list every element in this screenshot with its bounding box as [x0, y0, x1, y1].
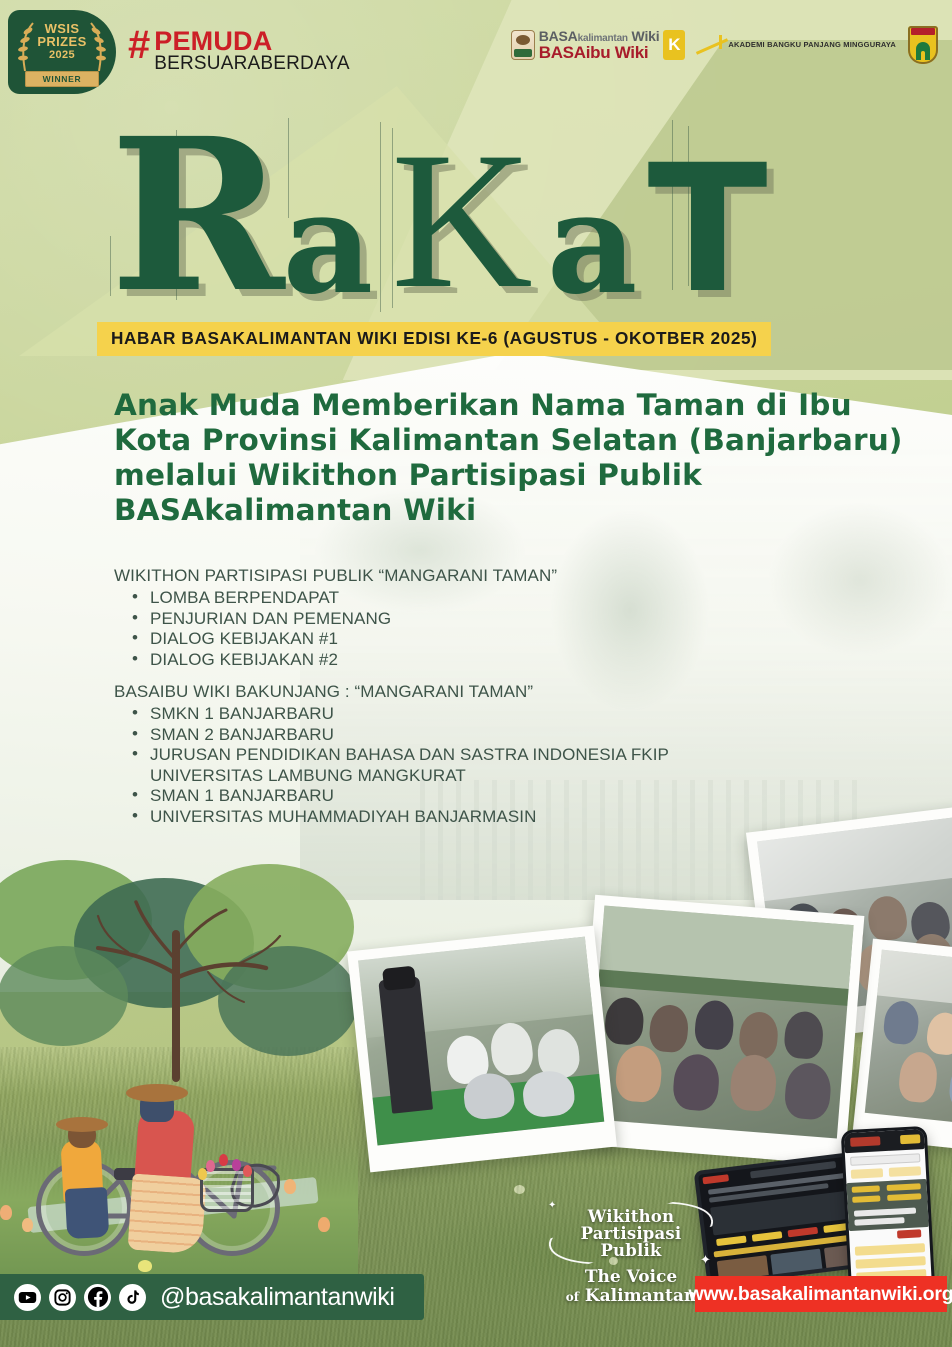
basa-mask-icon [511, 30, 535, 60]
basa-k-icon: K [663, 30, 685, 60]
banjarbaru-city-emblem [908, 26, 938, 64]
akademi-label: AKADEMI BANGKU PANJANG MINGGURAYA [728, 41, 896, 49]
voice-of-kalimantan-logo: The Voice of Kalimantan [556, 1268, 706, 1307]
voice-line-1: The Voice [556, 1268, 706, 1287]
rider-adult-hat [126, 1084, 188, 1102]
watercolor-bicycle-illustration [0, 860, 358, 1290]
section-basaibu-title: BASAIBU WIKI BAKUNJANG : “MANGARANI TAMA… [114, 682, 669, 702]
list-item-line-1: JURUSAN PENDIDIKAN BAHASA DAN SASTRA IND… [150, 745, 669, 764]
list-item: UNIVERSITAS MUHAMMADIYAH BANJARMASIN [132, 807, 669, 828]
pemuda-word: PEMUDA [154, 28, 350, 54]
basaibu-wiki-word: BASAibu Wiki [539, 44, 660, 61]
wiki-word: Wiki [632, 28, 660, 44]
title-letter-T: TT [648, 156, 764, 304]
list-item: DIALOG KEBIJAKAN #2 [132, 650, 557, 671]
title-letter-a2: aa [547, 186, 638, 304]
list-item: JURUSAN PENDIDIKAN BAHASA DAN SASTRA IND… [132, 745, 669, 786]
rider-child-hat [56, 1117, 108, 1132]
headline-line-2: Kota Provinsi Kalimantan Selatan (Banjar… [114, 423, 874, 458]
wikithon-line-1: Wikithon [556, 1208, 706, 1225]
pemuda-logo: # PEMUDA BERSUARABERDAYA [128, 28, 350, 74]
wsis-line-2: PRIZES [14, 35, 110, 48]
website-url-bar[interactable]: www.basakalimantanwiki.org [695, 1276, 947, 1312]
list-item: LOMBA BERPENDAPAT [132, 588, 557, 609]
sparkle-icon: ✦ [700, 1252, 711, 1268]
title-letter-a1: aa [283, 186, 374, 304]
list-item-line-2: UNIVERSITAS LAMBUNG MANGKURAT [150, 766, 669, 787]
list-item: SMAN 2 BANJARBARU [132, 725, 669, 746]
photo-image [588, 906, 854, 1139]
akademi-bangku-panjang-logo: AKADEMI BANGKU PANJANG MINGGURAYA [697, 31, 896, 59]
basakalimantan-wiki-logo: BASAkalimantan Wiki BASAibu Wiki K [511, 29, 686, 61]
phone-screen [844, 1129, 932, 1295]
article-headline: Anak Muda Memberikan Nama Taman di Ibu K… [114, 388, 874, 528]
section-basaibu: BASAIBU WIKI BAKUNJANG : “MANGARANI TAMA… [114, 682, 669, 827]
photo-image [358, 937, 604, 1146]
section-wikithon: WIKITHON PARTISIPASI PUBLIK “MANGARANI T… [114, 566, 557, 670]
tiktok-icon[interactable] [119, 1284, 146, 1311]
instagram-icon[interactable] [49, 1284, 76, 1311]
tree-branches-icon [58, 882, 308, 1082]
headline-line-3: melalui Wikithon Partisipasi Publik [114, 458, 874, 493]
list-item: SMAN 1 BANJARBARU [132, 786, 669, 807]
social-handle: @basakalimantanwiki [160, 1283, 395, 1312]
wikithon-line-2: Partisipasi [556, 1225, 706, 1242]
rider-adult-skirt [127, 1174, 206, 1255]
wsis-year: 2025 [14, 48, 110, 62]
section-wikithon-title: WIKITHON PARTISIPASI PUBLIK “MANGARANI T… [114, 566, 557, 586]
voice-of-word: of [566, 1290, 579, 1304]
section-wikithon-list: LOMBA BERPENDAPAT PENJURIAN DAN PEMENANG… [132, 588, 557, 670]
partner-logo-row: BASAkalimantan Wiki BASAibu Wiki K AKADE… [511, 26, 938, 64]
hash-icon: # [128, 28, 148, 62]
list-item: DIALOG KEBIJAKAN #1 [132, 629, 557, 650]
youtube-icon[interactable] [14, 1284, 41, 1311]
facebook-icon[interactable] [84, 1284, 111, 1311]
section-basaibu-list: SMKN 1 BANJARBARU SMAN 2 BANJARBARU JURU… [132, 704, 669, 827]
phone-mockup [841, 1126, 936, 1298]
sparkle-icon: ✦ [548, 1200, 556, 1211]
basa-word: BASA [539, 28, 578, 44]
social-media-bar: @basakalimantanwiki [0, 1274, 424, 1320]
voice-kalimantan-word: Kalimantan [585, 1286, 696, 1306]
poster-canvas: WSIS PRIZES 2025 WINNER # PEMUDA BERSUAR… [0, 0, 952, 1347]
bersuaraberdaya-word: BERSUARABERDAYA [154, 54, 350, 74]
wsis-prizes-badge: WSIS PRIZES 2025 WINNER [8, 10, 116, 94]
bench-icon [697, 31, 725, 59]
title-letter-K: KK [391, 139, 533, 304]
page-title: RR aa KK aa TT [110, 104, 870, 304]
wikithon-line-3: Publik [556, 1242, 706, 1259]
headline-line-4: BASAkalimantan Wiki [114, 493, 874, 528]
list-item: SMKN 1 BANJARBARU [132, 704, 669, 725]
photo-card [347, 926, 617, 1173]
rider-child-legs [65, 1187, 110, 1239]
wikithon-partisipasi-publik-logo: Wikithon Partisipasi Publik [556, 1208, 706, 1259]
list-item: PENJURIAN DAN PEMENANG [132, 609, 557, 630]
website-url-text: www.basakalimantanwiki.org [689, 1283, 952, 1306]
title-letter-R: RR [110, 128, 285, 304]
wsis-winner-ribbon: WINNER [25, 71, 99, 87]
photo-card [576, 895, 865, 1165]
photo-image [865, 950, 952, 1131]
headline-line-1: Anak Muda Memberikan Nama Taman di Ibu [114, 388, 874, 423]
